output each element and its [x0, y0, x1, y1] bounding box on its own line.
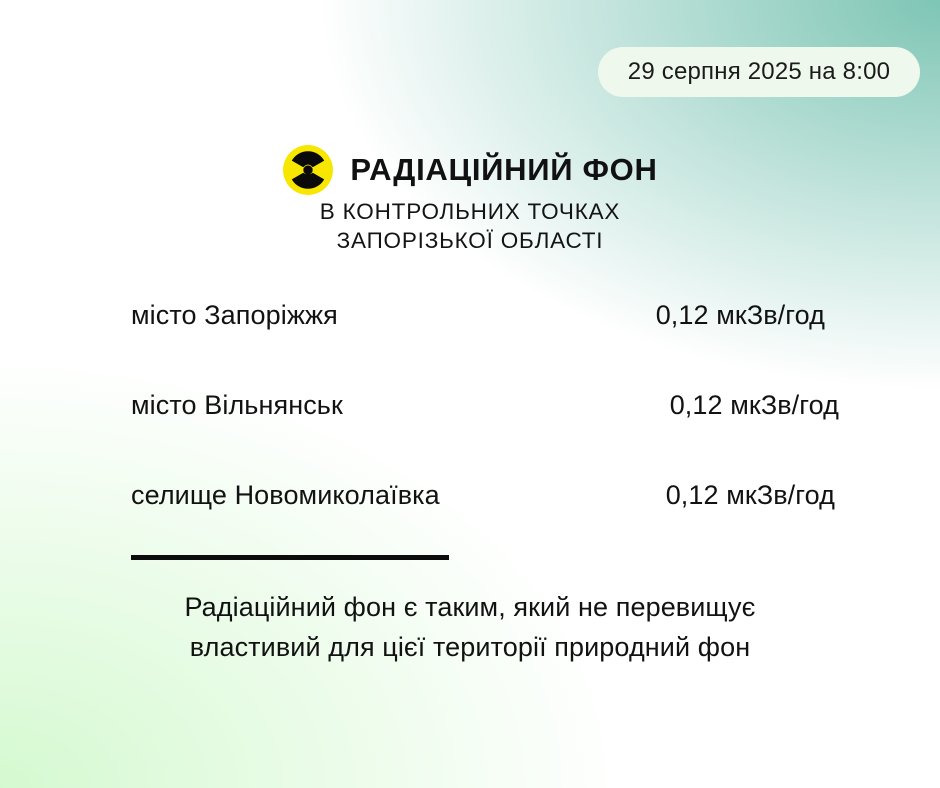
logo-line-2: ОБЛАСНИЙ: [100, 49, 196, 65]
measurement-location: місто Запоріжжя: [131, 300, 338, 331]
shield-signal-icon: [26, 28, 90, 104]
measurement-location: місто Вільнянськ: [131, 390, 343, 421]
date-badge: 29 серпня 2025 на 8:00: [598, 47, 920, 97]
title-row: РАДІАЦІЙНИЙ ФОН: [0, 144, 940, 196]
radiation-background-poster: ЗАПОРІЗЬКИЙ ОБЛАСНИЙ ЦКПХ 29 серпня 2025…: [0, 0, 940, 788]
page-subtitle-line-1: В КОНТРОЛЬНИХ ТОЧКАХ: [320, 199, 620, 224]
date-badge-text: 29 серпня 2025 на 8:00: [628, 58, 890, 86]
page-title: РАДІАЦІЙНИЙ ФОН: [350, 152, 657, 188]
measurement-location: селище Новомиколаївка: [131, 480, 440, 511]
explanatory-note-line-2: властивий для цієї території природний ф…: [0, 628, 940, 668]
logo-line-1: ЗАПОРІЗЬКИЙ: [100, 33, 196, 49]
measurement-value: 0,12 мкЗв/год: [571, 390, 871, 421]
measurement-list: місто Запоріжжя 0,12 мкЗв/год місто Віль…: [131, 300, 871, 570]
radiation-hazard-icon: [282, 144, 334, 196]
page-subtitle-line-2: ЗАПОРІЗЬКОЇ ОБЛАСТІ: [337, 228, 604, 253]
organization-logo: ЗАПОРІЗЬКИЙ ОБЛАСНИЙ ЦКПХ: [26, 28, 196, 104]
measurement-value: 0,12 мкЗв/год: [571, 300, 871, 331]
logo-wordmark: ЗАПОРІЗЬКИЙ ОБЛАСНИЙ ЦКПХ: [100, 31, 196, 102]
explanatory-note-line-1: Радіаційний фон є таким, який не перевищ…: [0, 588, 940, 628]
title-block: РАДІАЦІЙНИЙ ФОН В КОНТРОЛЬНИХ ТОЧКАХ ЗАП…: [0, 144, 940, 255]
measurement-row: місто Вільнянськ 0,12 мкЗв/год: [131, 390, 871, 480]
logo-acronym: ЦКПХ: [100, 67, 196, 102]
explanatory-note: Радіаційний фон є таким, який не перевищ…: [0, 588, 940, 668]
measurement-value: 0,12 мкЗв/год: [571, 480, 871, 511]
section-divider: [131, 555, 449, 560]
page-subtitle: В КОНТРОЛЬНИХ ТОЧКАХ ЗАПОРІЗЬКОЇ ОБЛАСТІ: [0, 198, 940, 255]
measurement-row: місто Запоріжжя 0,12 мкЗв/год: [131, 300, 871, 390]
